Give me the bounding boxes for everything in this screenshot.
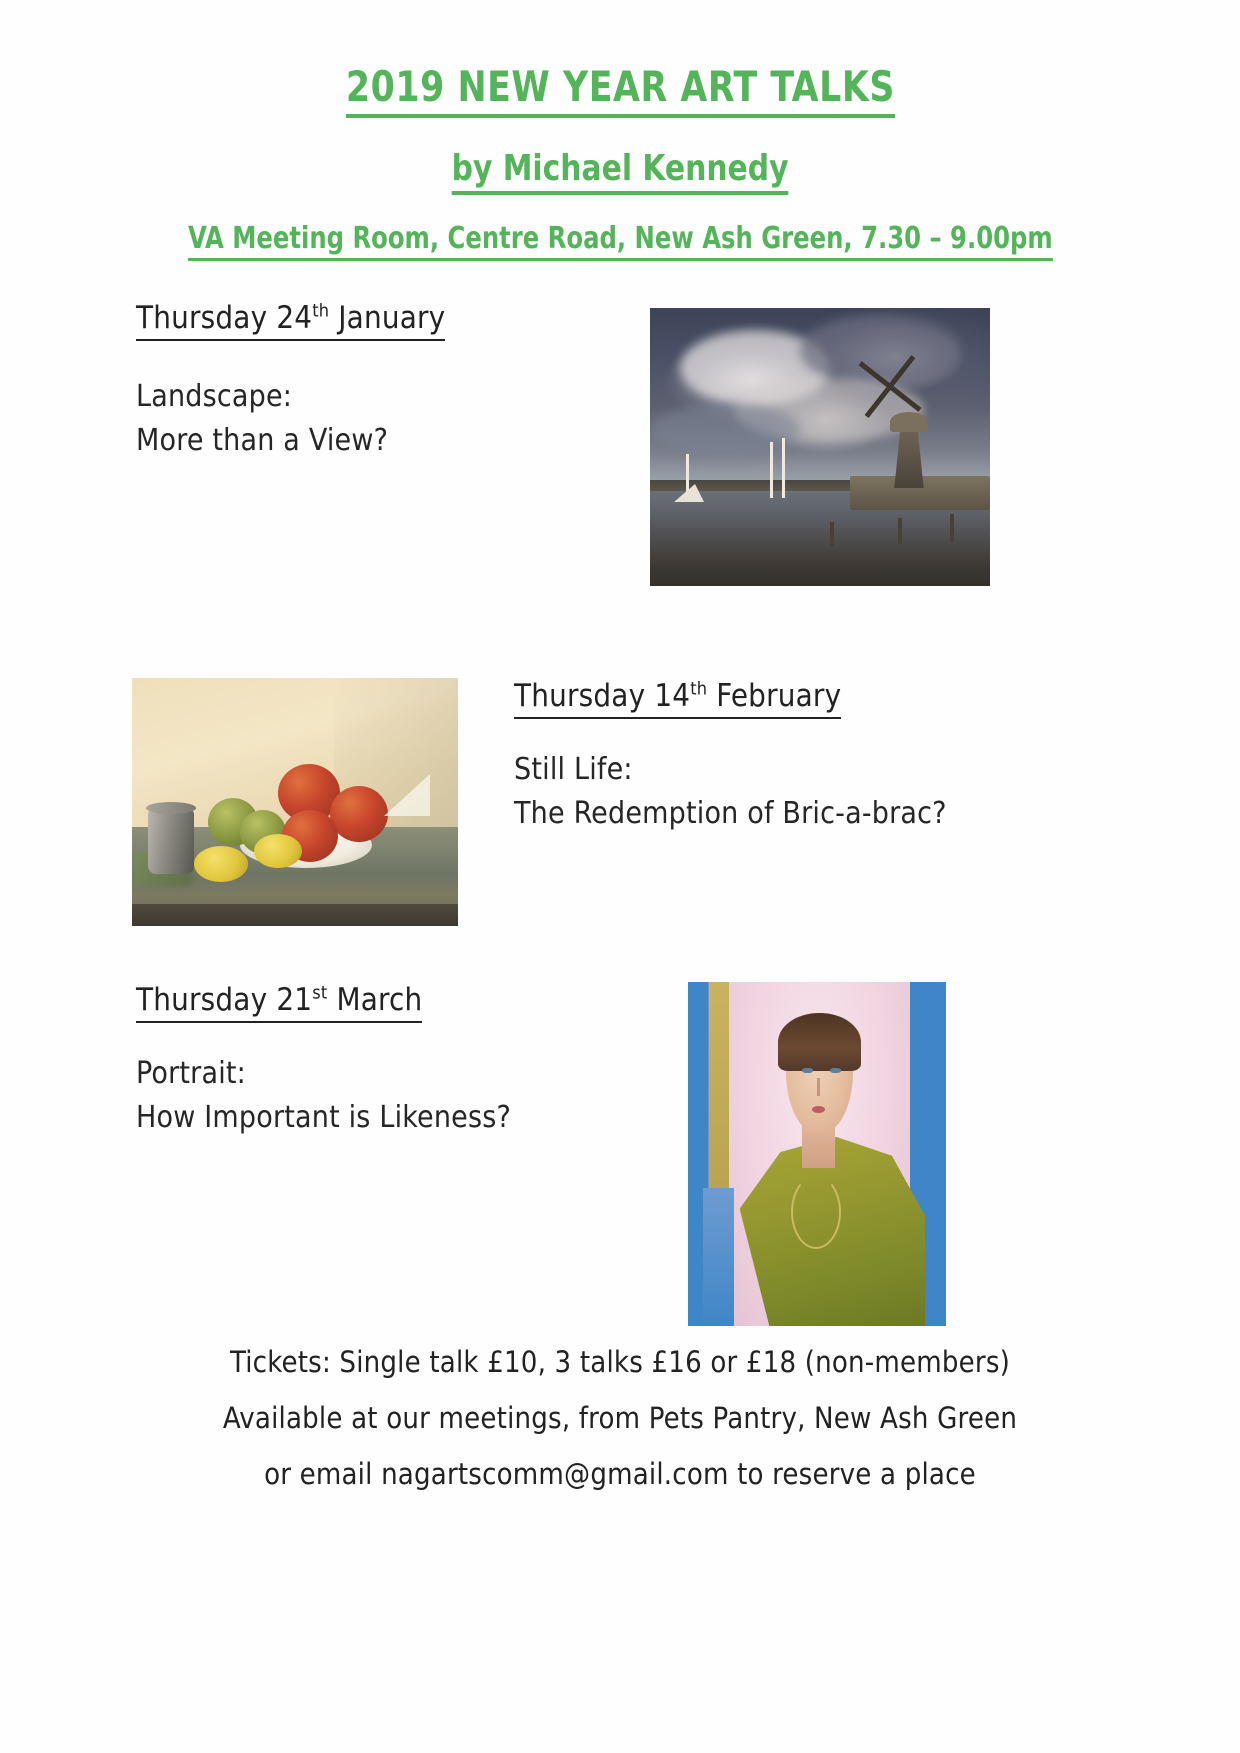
stilllife-table-edge xyxy=(132,904,458,926)
talk-subtitle-january: More than a View? xyxy=(136,419,388,463)
poster-header: 2019 NEW YEAR ART TALKS by Michael Kenne… xyxy=(0,62,1240,261)
talk-date-february: Thursday 14th February xyxy=(514,678,841,719)
venue-row: VA Meeting Room, Centre Road, New Ash Gr… xyxy=(0,221,1240,261)
landscape-cloud-4 xyxy=(650,404,800,456)
portrait-eye-right xyxy=(830,1068,841,1073)
talk-subtitle-february: The Redemption of Bric-a-brac? xyxy=(514,792,947,836)
talk-description-march: Portrait: How Important is Likeness? xyxy=(136,1052,511,1139)
artwork-windmill-landscape xyxy=(650,308,990,586)
talk-topic-january: Landscape: xyxy=(136,375,388,419)
talk-date-january-month: January xyxy=(338,300,445,336)
talk-subtitle-march: How Important is Likeness? xyxy=(136,1096,511,1140)
talk-date-january-day: Thursday 24 xyxy=(136,300,312,336)
artwork-still-life xyxy=(132,678,458,926)
landscape-post-3 xyxy=(950,514,954,542)
talk-date-march-ordinal: st xyxy=(312,983,327,1004)
talk-date-january-ordinal: th xyxy=(312,301,329,322)
poster-footer: Tickets: Single talk £10, 3 talks £16 or… xyxy=(0,1345,1240,1513)
portrait-blue-stripe xyxy=(703,1188,734,1326)
contact-email-line: or email nagartscomm@gmail.com to reserv… xyxy=(0,1457,1240,1491)
page-title: 2019 NEW YEAR ART TALKS xyxy=(345,62,894,118)
portrait-necklace xyxy=(791,1175,841,1249)
landscape-post-1 xyxy=(830,522,834,546)
landscape-boat-mast-2 xyxy=(770,442,773,498)
portrait-left-panel xyxy=(709,982,730,1202)
talk-date-february-month: February xyxy=(716,678,841,714)
portrait-nose xyxy=(817,1078,820,1096)
title-row: 2019 NEW YEAR ART TALKS xyxy=(0,62,1240,118)
byline: by Michael Kennedy xyxy=(452,148,789,195)
talk-description-january: Landscape: More than a View? xyxy=(136,375,388,462)
stilllife-red-apple-2 xyxy=(330,786,388,842)
byline-row: by Michael Kennedy xyxy=(0,148,1240,195)
portrait-eye-left xyxy=(802,1068,813,1073)
poster-page: 2019 NEW YEAR ART TALKS by Michael Kenne… xyxy=(0,0,1240,1753)
talk-date-march-month: March xyxy=(336,982,422,1018)
talk-date-february-day: Thursday 14 xyxy=(514,678,690,714)
talk-topic-february: Still Life: xyxy=(514,748,947,792)
portrait-lips xyxy=(812,1106,825,1113)
stilllife-lemon-2 xyxy=(194,846,248,882)
talk-date-february-ordinal: th xyxy=(690,679,707,700)
talk-date-january: Thursday 24th January xyxy=(136,300,445,341)
landscape-post-2 xyxy=(898,518,902,544)
talk-date-march: Thursday 21st March xyxy=(136,982,422,1023)
stilllife-jug xyxy=(148,810,194,874)
artwork-portrait xyxy=(688,982,946,1326)
landscape-boat-mast-3 xyxy=(782,438,785,498)
landscape-windmill-cap xyxy=(890,412,928,432)
talk-topic-march: Portrait: xyxy=(136,1052,511,1096)
venue-details: VA Meeting Room, Centre Road, New Ash Gr… xyxy=(188,221,1053,261)
stilllife-jug-rim xyxy=(146,802,196,814)
portrait-hair xyxy=(778,1013,861,1071)
talk-description-february: Still Life: The Redemption of Bric-a-bra… xyxy=(514,748,947,835)
ticket-prices: Tickets: Single talk £10, 3 talks £16 or… xyxy=(0,1345,1240,1379)
stilllife-lemon-1 xyxy=(254,834,302,868)
talk-date-march-day: Thursday 21 xyxy=(136,982,312,1018)
ticket-availability: Available at our meetings, from Pets Pan… xyxy=(0,1401,1240,1435)
